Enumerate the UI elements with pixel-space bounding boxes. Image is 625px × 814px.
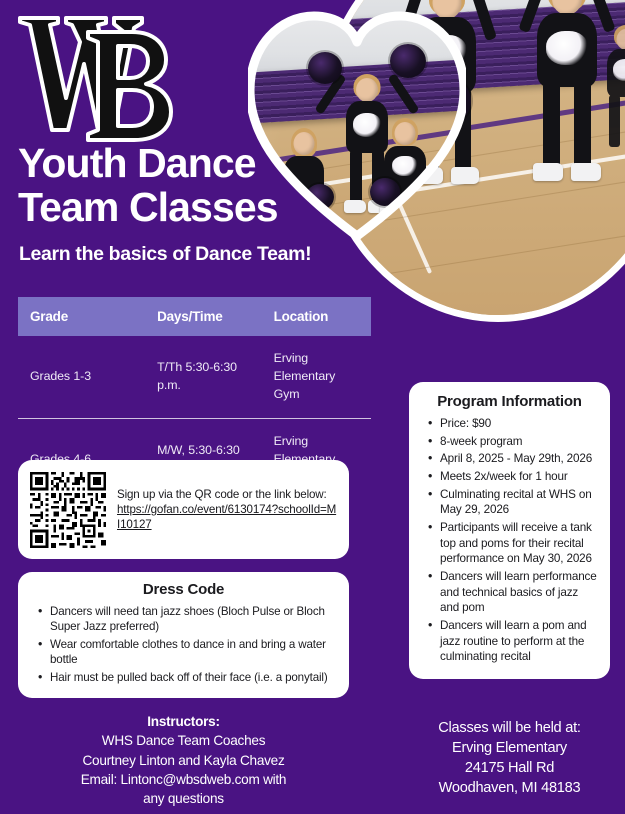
column-header-days-time: Days/Time	[145, 297, 261, 336]
cell-grade: Grades 1-3	[18, 336, 145, 418]
pom-pom	[308, 52, 342, 84]
title-line-2: Team Classes	[18, 186, 348, 230]
signup-link[interactable]: https://gofan.co/event/6130174?schoolId=…	[117, 503, 336, 531]
program-information-card: Program Information Price: $90 8-week pr…	[409, 382, 610, 679]
signup-card: Sign up via the QR code or the link belo…	[18, 460, 349, 559]
instructors-line-4: any questions	[18, 789, 349, 808]
instructors-line-1: WHS Dance Team Coaches	[18, 731, 349, 750]
gym-bleachers	[248, 59, 466, 125]
floor-plank	[318, 164, 625, 235]
gym-background	[325, 0, 625, 315]
court-line-purple	[318, 83, 625, 158]
list-item: Dancers will learn performance and techn…	[440, 569, 598, 616]
pom-pom	[419, 77, 471, 125]
list-item: Participants will receive a tank top and…	[440, 520, 598, 567]
location-line-3: 24175 Hall Rd	[400, 758, 619, 778]
signup-instruction: Sign up via the QR code or the link belo…	[117, 488, 327, 501]
instructors-label: Instructors:	[18, 712, 349, 731]
list-item: Dancers will need tan jazz shoes (Bloch …	[50, 604, 336, 635]
court-line-white	[318, 137, 625, 211]
program-information-list: Price: $90 8-week program April 8, 2025 …	[421, 416, 598, 665]
list-item: Hair must be pulled back off of their fa…	[50, 670, 336, 685]
list-item: Wear comfortable clothes to dance in and…	[50, 637, 336, 668]
table-header-row: Grade Days/Time Location	[18, 297, 371, 336]
location-line-2: Erving Elementary	[400, 738, 619, 758]
pom-pom	[370, 178, 400, 206]
instructors-block: Instructors: WHS Dance Team Coaches Cour…	[18, 712, 349, 808]
dancer-figure	[521, 0, 613, 199]
floor-plank	[318, 218, 625, 289]
list-item: Price: $90	[440, 416, 598, 432]
gym-wall	[325, 0, 625, 56]
gym-wall	[248, 8, 466, 85]
column-header-location: Location	[262, 297, 371, 336]
list-item: Dancers will learn a pom and jazz routin…	[440, 618, 598, 665]
list-item: Meets 2x/week for 1 hour	[440, 469, 598, 485]
list-item: April 8, 2025 - May 29th, 2026	[440, 451, 598, 467]
flyer-poster: Youth Dance Team Classes Learn the basic…	[0, 0, 625, 814]
instructors-line-2: Courtney Linton and Kayla Chavez	[18, 751, 349, 770]
title-line-1: Youth Dance	[18, 142, 348, 186]
signup-text: Sign up via the QR code or the link belo…	[117, 487, 337, 532]
dress-code-heading: Dress Code	[31, 581, 336, 598]
pom-pom	[390, 44, 426, 78]
instructors-email: Email: Lintonc@wbsdweb.com with	[18, 770, 349, 789]
list-item: Culminating recital at WHS on May 29, 20…	[440, 487, 598, 518]
location-block: Classes will be held at: Erving Elementa…	[400, 718, 619, 799]
program-information-heading: Program Information	[421, 393, 598, 410]
location-line-4: Woodhaven, MI 48183	[400, 778, 619, 798]
wb-logo-icon	[14, 6, 174, 146]
dancer-figure-background	[597, 15, 625, 165]
dancer-figure	[401, 0, 493, 197]
qr-code-icon[interactable]	[30, 472, 106, 548]
gym-bleachers	[318, 0, 625, 99]
column-header-grade: Grade	[18, 297, 145, 336]
dancers-photo-primary	[318, 0, 625, 322]
table-row: Grades 1-3 T/Th 5:30-6:30 p.m. Erving El…	[18, 336, 371, 418]
page-title: Youth Dance Team Classes	[18, 142, 348, 230]
list-item: 8-week program	[440, 434, 598, 450]
cell-location: Erving Elementary Gym	[262, 336, 371, 418]
dancer-figure	[376, 116, 434, 232]
page-subtitle: Learn the basics of Dance Team!	[19, 243, 311, 266]
court-line-white	[391, 190, 431, 274]
dress-code-card: Dress Code Dancers will need tan jazz sh…	[18, 572, 349, 698]
dress-code-list: Dancers will need tan jazz shoes (Bloch …	[31, 604, 336, 685]
location-line-1: Classes will be held at:	[400, 718, 619, 738]
floor-plank	[318, 114, 625, 185]
cell-days-time: T/Th 5:30-6:30 p.m.	[145, 336, 261, 418]
